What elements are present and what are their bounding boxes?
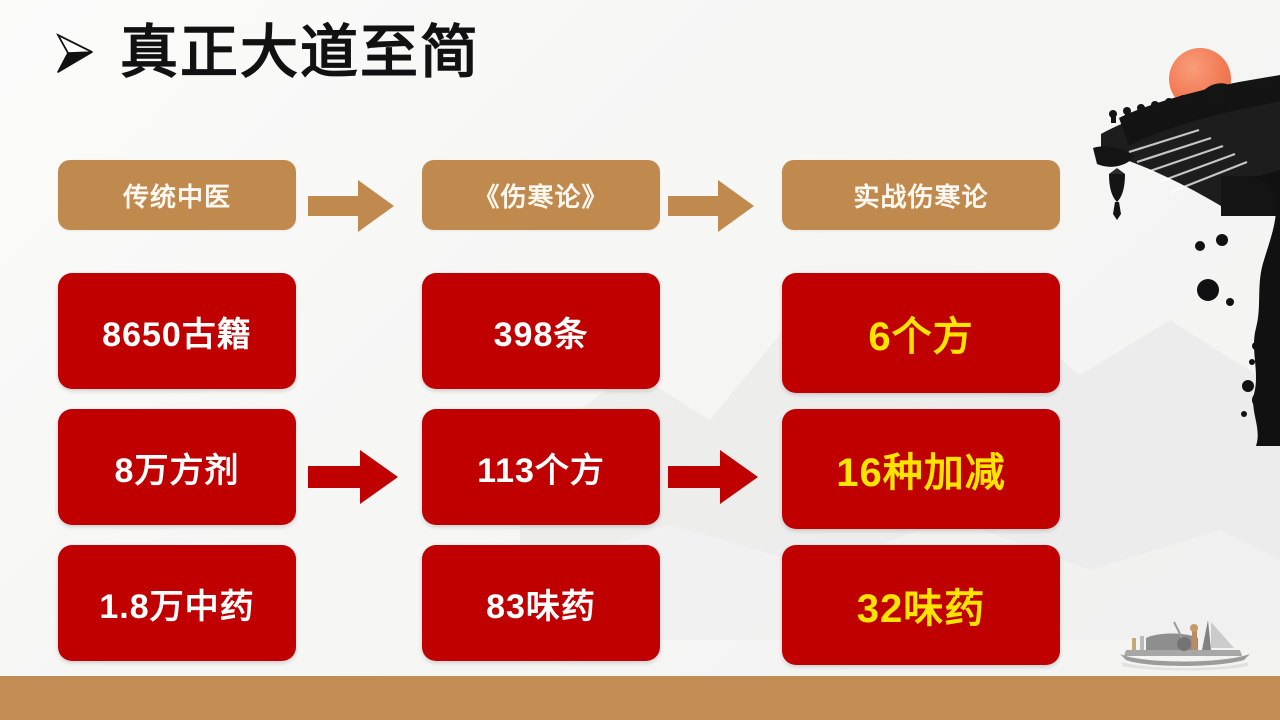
- header-arrow-2-right-arrow-icon: [668, 178, 754, 234]
- page-title: 真正大道至简: [120, 24, 480, 82]
- cell-practical-modifications[interactable]: 16种加减: [782, 409, 1060, 529]
- column-header-traditional-tcm[interactable]: 传统中医: [58, 160, 296, 230]
- cell-tcm-herbs[interactable]: 1.8万中药: [58, 545, 296, 661]
- sun-icon: [1169, 48, 1231, 110]
- slide-canvas: 真正大道至简 传统中医 8650古籍 8万方剂 1.8万中药 《伤寒论》 398…: [0, 0, 1280, 720]
- temple-roof-icon: [1071, 56, 1280, 256]
- column-shanghanlun: 《伤寒论》 398条 113个方 83味药: [422, 160, 660, 661]
- chinese-boat-icon: [1112, 614, 1262, 674]
- arrow-bullet-icon: [56, 31, 94, 75]
- column-traditional-tcm: 传统中医 8650古籍 8万方剂 1.8万中药: [58, 160, 296, 661]
- slide-title-row: 真正大道至简: [56, 24, 480, 82]
- column-header-practical-shanghanlun[interactable]: 实战伤寒论: [782, 160, 1060, 230]
- cell-shl-clauses[interactable]: 398条: [422, 273, 660, 389]
- column-practical-shanghanlun: 实战伤寒论 6个方 16种加减 32味药: [782, 160, 1060, 665]
- row2-arrow-2-right-arrow-icon: [668, 448, 758, 506]
- cell-tcm-ancient-books[interactable]: 8650古籍: [58, 273, 296, 389]
- cell-practical-formulas[interactable]: 6个方: [782, 273, 1060, 393]
- cell-practical-herbs[interactable]: 32味药: [782, 545, 1060, 665]
- cell-tcm-formulas[interactable]: 8万方剂: [58, 409, 296, 525]
- cell-shl-formulas[interactable]: 113个方: [422, 409, 660, 525]
- cell-shl-herbs[interactable]: 83味药: [422, 545, 660, 661]
- row2-arrow-1-right-arrow-icon: [308, 448, 398, 506]
- column-header-shanghanlun[interactable]: 《伤寒论》: [422, 160, 660, 230]
- bottom-bar: [0, 676, 1280, 720]
- header-arrow-1-right-arrow-icon: [308, 178, 394, 234]
- ink-splatter-icon: [1160, 150, 1280, 450]
